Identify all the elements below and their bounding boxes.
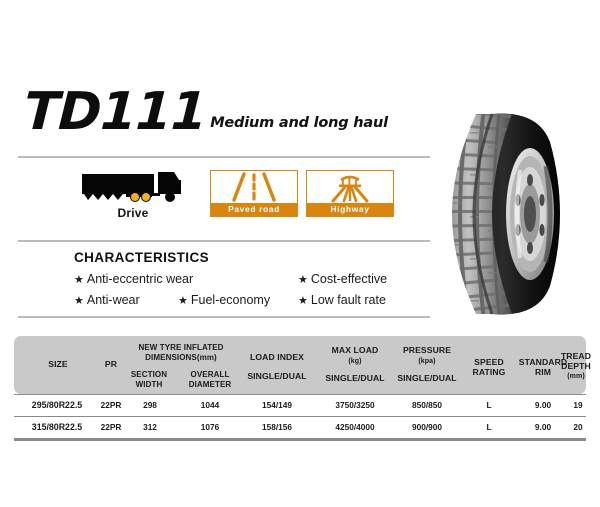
cell-load-index: 154/149 [236, 395, 318, 416]
col-header-max-load-sub: SINGLE/DUAL [314, 374, 396, 384]
col-header-load-index-sub: SINGLE/DUAL [236, 372, 318, 382]
col-header-section-width: SECTION WIDTH [122, 370, 176, 389]
cell-tread-depth: 19 [542, 395, 600, 416]
characteristics-section: CHARACTERISTICS ★Anti-eccentric wear ★An… [74, 250, 424, 314]
cell-section-width: 298 [124, 395, 176, 416]
road-lane-icon [211, 171, 297, 203]
characteristics-list: ★Anti-eccentric wear ★Anti-wear ★Fuel-ec… [74, 272, 424, 314]
col-header-overall-diameter: OVERALL DIAMETER [180, 370, 240, 389]
star-icon: ★ [74, 274, 84, 286]
fitment-position-label: Drive [73, 206, 193, 220]
specification-table: SIZE PR NEW TYRE INFLATED DIMENSIONS(mm)… [0, 336, 600, 446]
star-icon: ★ [178, 295, 188, 307]
characteristic-label: Low fault rate [311, 293, 386, 307]
characteristic-item: ★Fuel-economy [178, 293, 270, 307]
application-badge-highway: Highway [306, 170, 394, 217]
page-title: TD111 [23, 86, 208, 138]
characteristic-item: ★Anti-wear [74, 293, 140, 307]
col-header-pressure: PRESSURE (kpa) [386, 346, 468, 366]
characteristics-heading: CHARACTERISTICS [74, 250, 424, 265]
truck-side-icon [73, 170, 193, 204]
col-header-tread-depth: TREAD DEPTH (mm) [540, 352, 600, 382]
divider-middle [18, 240, 430, 242]
col-header-new-tyre-dimensions: NEW TYRE INFLATED DIMENSIONS(mm) [122, 343, 240, 362]
star-icon: ★ [74, 295, 84, 307]
cell-section-width: 312 [124, 417, 176, 438]
characteristic-item: ★Anti-eccentric wear [74, 272, 193, 286]
table-bottom-rule [14, 439, 586, 441]
star-icon: ★ [298, 295, 308, 307]
cell-load-index: 158/156 [236, 417, 318, 438]
tyre-product-image [446, 108, 586, 320]
cell-overall-diameter: 1044 [180, 395, 240, 416]
cell-pressure: 900/900 [386, 417, 468, 438]
application-strip: Drive Paved road [18, 164, 430, 236]
product-title-block: TD111Medium and long haul [24, 86, 424, 138]
cell-pressure: 850/850 [386, 395, 468, 416]
col-header-max-load: MAX LOAD (kg) [314, 346, 396, 366]
divider-top [18, 156, 430, 158]
col-header-pressure-sub: SINGLE/DUAL [386, 374, 468, 384]
characteristic-item: ★Cost-effective [298, 272, 387, 286]
col-header-load-index: LOAD INDEX [236, 353, 318, 363]
application-badge-paved-road: Paved road [210, 170, 298, 217]
characteristic-label: Anti-eccentric wear [87, 272, 193, 286]
characteristic-item: ★Low fault rate [298, 293, 386, 307]
table-body: 295/80R22.5 22PR 298 1044 154/149 3750/3… [14, 394, 586, 439]
divider-bottom [18, 316, 430, 318]
cell-max-load: 4250/4000 [314, 417, 396, 438]
characteristic-label: Cost-effective [311, 272, 387, 286]
application-badge-label: Paved road [211, 203, 297, 216]
table-row: 315/80R22.5 22PR 312 1076 158/156 4250/4… [14, 417, 586, 439]
product-tagline: Medium and long haul [210, 116, 388, 130]
cell-tread-depth: 20 [542, 417, 600, 438]
cell-max-load: 3750/3250 [314, 395, 396, 416]
star-icon: ★ [298, 274, 308, 286]
characteristic-label: Fuel-economy [191, 293, 270, 307]
product-spec-sheet: TD111Medium and long haul [0, 0, 600, 507]
table-row: 295/80R22.5 22PR 298 1044 154/149 3750/3… [14, 394, 586, 417]
cell-overall-diameter: 1076 [180, 417, 240, 438]
application-badge-label: Highway [307, 203, 393, 216]
characteristic-label: Anti-wear [87, 293, 140, 307]
table-header: SIZE PR NEW TYRE INFLATED DIMENSIONS(mm)… [14, 336, 586, 394]
fitment-position: Drive [73, 170, 193, 220]
highway-overpass-icon [307, 171, 393, 203]
